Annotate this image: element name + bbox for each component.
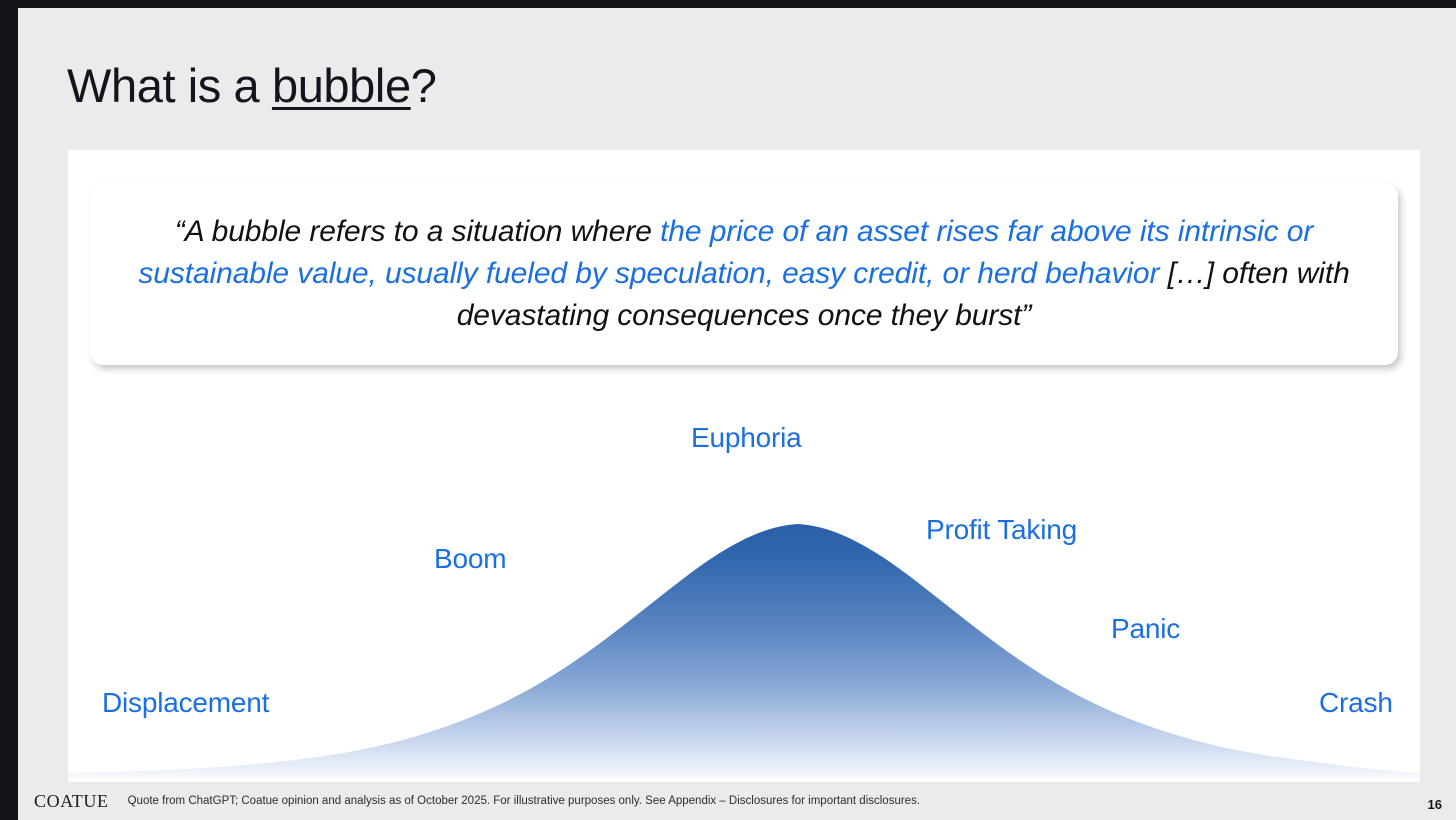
slide-footer: COATUE Quote from ChatGPT; Coatue opinio… [18,782,1456,820]
stage-label-boom: Boom [434,543,506,575]
stage-label-crash: Crash [1319,687,1393,719]
quote-part-1: “A bubble refers to a situation where [175,215,660,248]
stage-label-panic: Panic [1111,613,1180,645]
quote-card: “A bubble refers to a situation where th… [90,183,1398,365]
quote-text: “A bubble refers to a situation where th… [110,211,1378,338]
content-panel: “A bubble refers to a situation where th… [68,150,1420,782]
footer-brand-logo: COATUE [34,791,109,812]
page-title-prefix: What is a [67,59,272,112]
footer-disclosure-note: Quote from ChatGPT; Coatue opinion and a… [128,795,920,807]
bubble-curve-path [68,524,1420,782]
stage-label-profit-taking: Profit Taking [926,514,1077,546]
screenshot-viewport: What is a bubble? “A bubble refers to a … [0,0,1456,820]
page-number: 16 [1428,797,1442,812]
page-title-suffix: ? [411,59,437,112]
stage-label-displacement: Displacement [102,687,269,719]
page-title-emphasis: bubble [272,59,411,112]
stage-label-euphoria: Euphoria [691,422,801,454]
slide-surface: What is a bubble? “A bubble refers to a … [18,8,1456,820]
page-title: What is a bubble? [67,58,436,113]
